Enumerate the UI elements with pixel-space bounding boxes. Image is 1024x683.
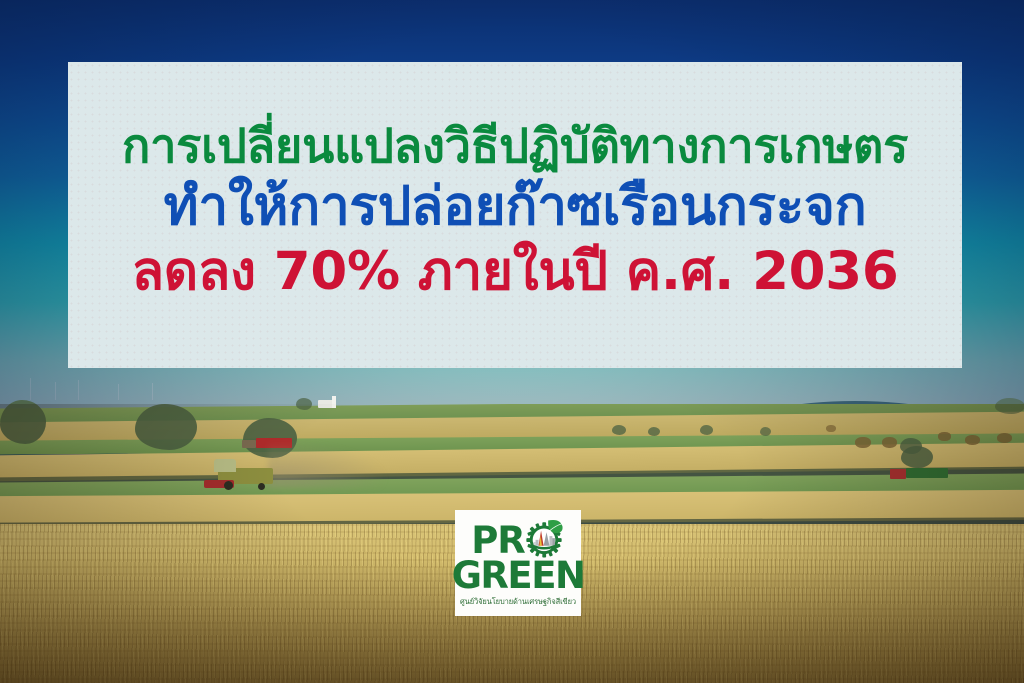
headline-panel: การเปลี่ยนแปลงวิธีปฏิบัติทางการเกษตร ทำใ… bbox=[68, 62, 962, 368]
headline-line-1: การเปลี่ยนแปลงวิธีปฏิบัติทางการเกษตร bbox=[82, 119, 948, 174]
headline-line-2: ทำให้การปล่อยก๊าซเรือนกระจก bbox=[82, 176, 948, 239]
logo-text-green: GREEN bbox=[452, 557, 585, 594]
headline-line-3: ลดลง 70% ภายในปี ค.ศ. 2036 bbox=[82, 241, 948, 304]
poster-canvas: การเปลี่ยนแปลงวิธีปฏิบัติทางการเกษตร ทำใ… bbox=[0, 0, 1024, 683]
pro-green-logo: PR bbox=[455, 510, 581, 616]
gear-leaf-city-icon bbox=[523, 518, 565, 560]
logo-tagline: ศูนย์วิจัยนโยบายด้านเศรษฐกิจสีเขียว bbox=[460, 596, 576, 608]
